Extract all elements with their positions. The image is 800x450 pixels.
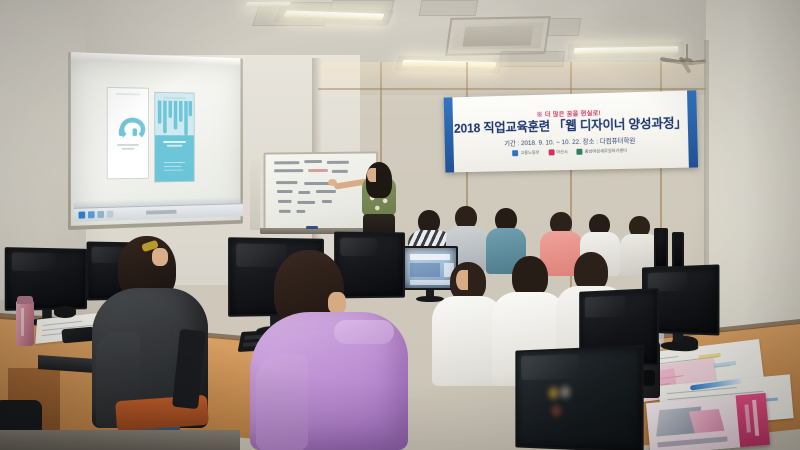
banner-logo-label: 충남여성새로일하기센터 (585, 148, 628, 155)
student-front-center (250, 250, 410, 450)
taskbar-icon (88, 211, 95, 218)
windows-logo-glow (558, 382, 572, 402)
ceiling-tile (419, 0, 479, 16)
taskbar-icon (79, 212, 86, 219)
headphone-mockup (107, 87, 149, 180)
banner-logo-1: 아산시 (548, 149, 568, 155)
whiteboard-marker[interactable] (306, 226, 318, 229)
illustrator-workbook[interactable] (646, 393, 770, 450)
banner-logo-label: 아산시 (556, 149, 568, 155)
student-neck (328, 292, 346, 314)
banner-meta: 기간 : 2018. 9. 10. ~ 10. 22. 장소 : 다컴퓨터학원 (504, 135, 635, 147)
ac-vent (445, 16, 551, 56)
drip-poster-mockup (154, 92, 194, 183)
ceiling-light (245, 2, 291, 7)
taskbar-window-button (146, 210, 176, 215)
banner-left-border (444, 97, 454, 172)
student-ear (152, 248, 168, 266)
smartphone[interactable] (61, 327, 94, 344)
instructor-hand (328, 179, 337, 186)
mouse-left[interactable] (54, 306, 76, 318)
job-center-logo-icon (577, 149, 583, 155)
student-sleeve (256, 354, 308, 450)
monitor-right-b (672, 232, 684, 270)
taskbar-icon (97, 211, 104, 218)
banner-logo-2: 충남여성새로일하기센터 (577, 148, 628, 155)
event-banner: ※ 더 많은 꿈을 현실로! 2018 직업교육훈련 「웹 디자이너 양성과정」… (444, 90, 698, 172)
monitor-right-back (654, 228, 668, 268)
student-shoulder (334, 320, 394, 344)
banner-right-border (687, 90, 698, 167)
right-wall (706, 0, 800, 330)
classroom-photo: ※ 더 많은 꿈을 현실로! 2018 직업교육훈련 「웹 디자이너 양성과정」… (0, 0, 800, 450)
windows-logo-glow (549, 402, 563, 420)
banner-subtitle: ※ 더 많은 꿈을 현실로! (536, 108, 601, 119)
whiteboard-side-panel (250, 160, 260, 230)
tumbler-pink[interactable] (16, 296, 34, 346)
student-face (456, 270, 468, 290)
ceiling-stain (600, 12, 660, 30)
city-logo-icon (548, 149, 554, 155)
monitor-foreground-windows (515, 345, 643, 450)
projection-screen-surface (71, 60, 241, 226)
banner-logo-label: 고용노동부 (520, 150, 539, 156)
ministry-logo-icon (513, 150, 519, 156)
projection-screen (68, 52, 243, 230)
banner-title: 2018 직업교육훈련 「웹 디자이너 양성과정」 (454, 117, 687, 137)
taskbar-icon (107, 211, 113, 218)
ceiling-stain (520, 2, 568, 16)
banner-logo-row: 고용노동부 아산시 충남여성새로일하기센터 (513, 148, 628, 157)
floor (0, 430, 240, 450)
banner-logo-0: 고용노동부 (513, 150, 540, 157)
instructor-face (367, 168, 376, 182)
ceiling-vent-slot (547, 18, 582, 36)
